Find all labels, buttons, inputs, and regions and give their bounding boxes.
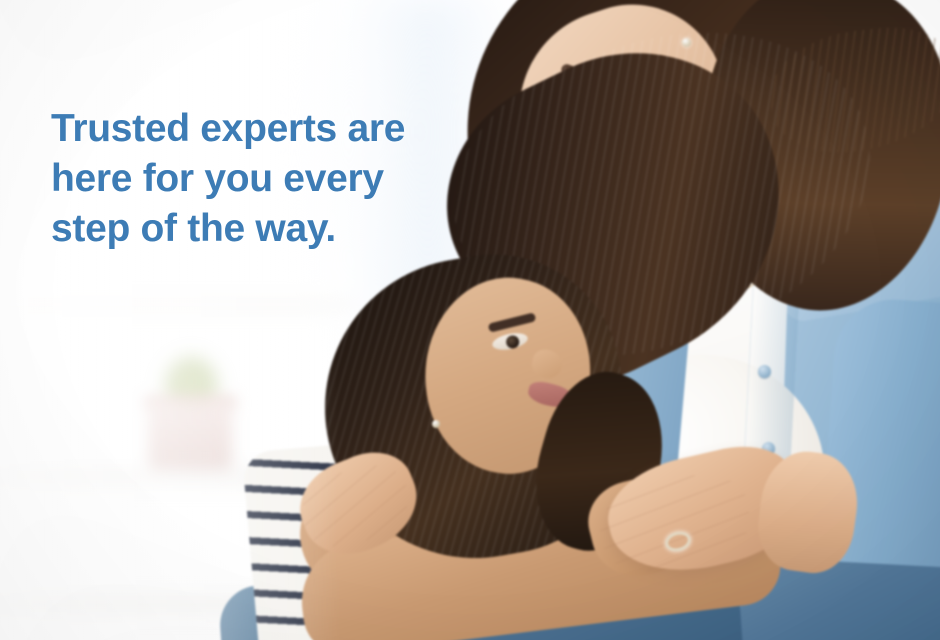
headline-line-2: here for you every xyxy=(51,154,481,204)
hero-banner: Trusted experts are here for you every s… xyxy=(0,0,940,640)
headline-line-3: step of the way. xyxy=(51,204,481,254)
headline: Trusted experts are here for you every s… xyxy=(51,104,481,254)
headline-line-1: Trusted experts are xyxy=(51,104,481,154)
hero-photo xyxy=(0,0,940,640)
vignette-overlay xyxy=(0,0,940,640)
